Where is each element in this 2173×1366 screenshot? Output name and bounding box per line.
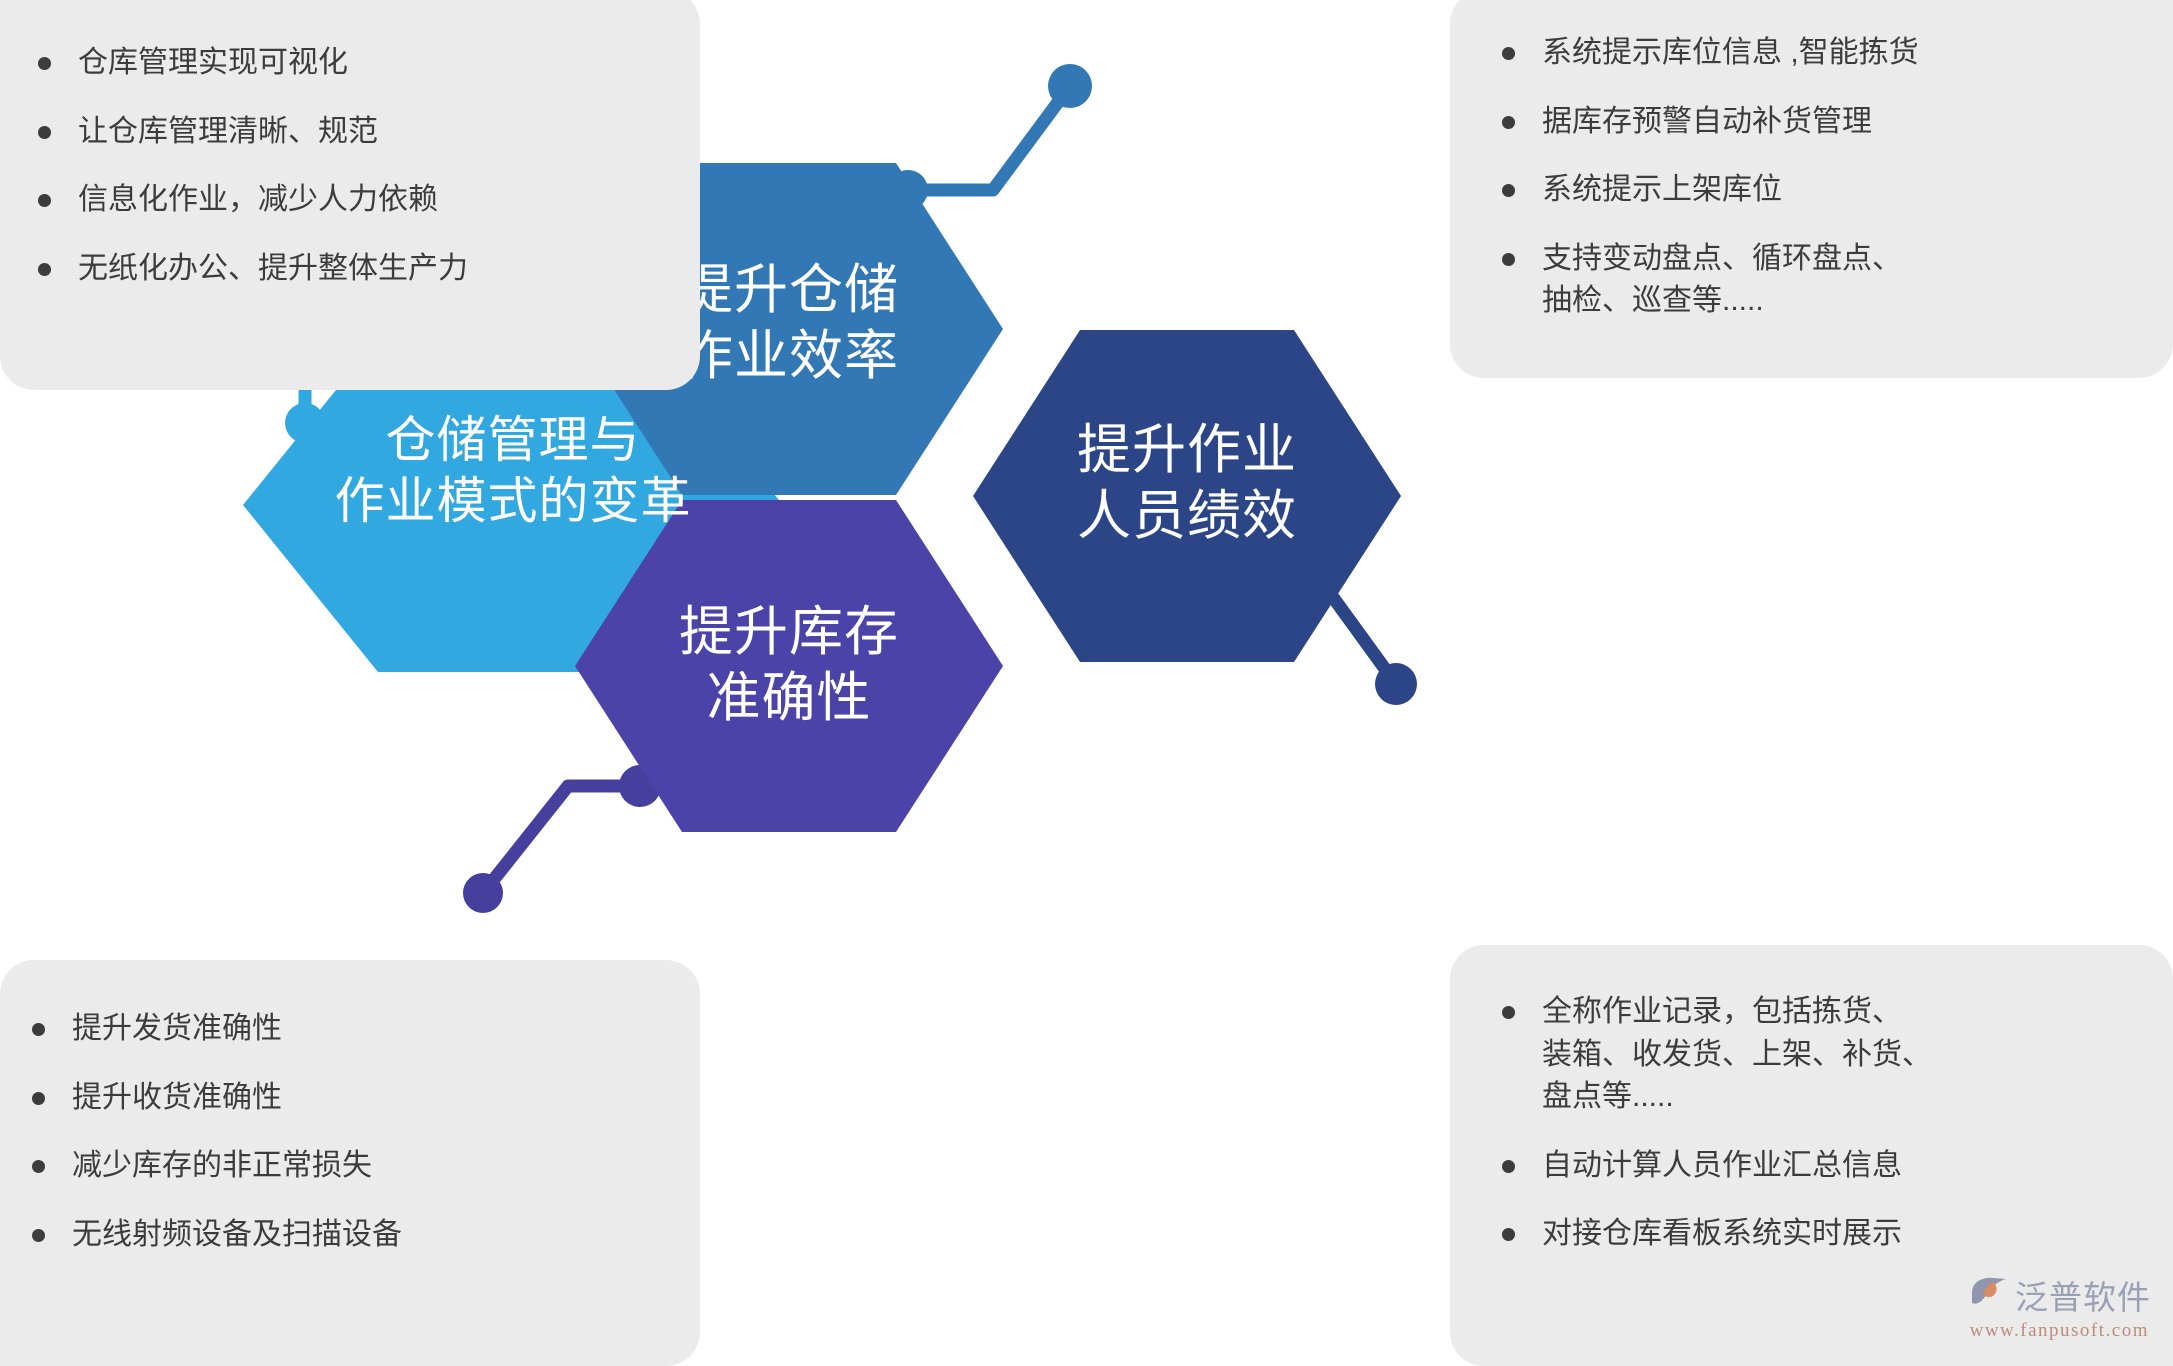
- list-item: 自动计算人员作业汇总信息: [1496, 1145, 2149, 1188]
- info-box-efficiency-benefits[interactable]: 系统提示库位信息 ,智能拣货 据库存预警自动补货管理 系统提示上架库位 支持变动…: [1450, 0, 2173, 378]
- info-list-transform-benefits: 仓库管理实现可视化 让仓库管理清晰、规范 信息化作业，减少人力依赖 无纸化办公、…: [32, 42, 660, 290]
- info-list-performance-benefits: 全称作业记录，包括拣货、 装箱、收发货、上架、补货、 盘点等..... 自动计算…: [1496, 991, 2149, 1256]
- list-item: 系统提示上架库位: [1496, 169, 2143, 212]
- list-item: 提升发货准确性: [26, 1008, 660, 1051]
- list-item: 据库存预警自动补货管理: [1496, 101, 2143, 144]
- diagram-canvas: 仓储管理与 作业模式的变革 提升仓储 作业效率 提升库存 准确性 提升作业 人员…: [0, 0, 2173, 1356]
- list-item: 提升收货准确性: [26, 1077, 660, 1120]
- info-list-efficiency-benefits: 系统提示库位信息 ,智能拣货 据库存预警自动补货管理 系统提示上架库位 支持变动…: [1496, 32, 2143, 323]
- list-item: 无纸化办公、提升整体生产力: [32, 248, 660, 291]
- list-item: 仓库管理实现可视化: [32, 42, 660, 85]
- list-item: 让仓库管理清晰、规范: [32, 111, 660, 154]
- info-box-performance-benefits[interactable]: 全称作业记录，包括拣货、 装箱、收发货、上架、补货、 盘点等..... 自动计算…: [1450, 945, 2173, 1366]
- list-item: 减少库存的非正常损失: [26, 1145, 660, 1188]
- list-item: 系统提示库位信息 ,智能拣货: [1496, 32, 2143, 75]
- info-box-transform-benefits[interactable]: 仓库管理实现可视化 让仓库管理清晰、规范 信息化作业，减少人力依赖 无纸化办公、…: [0, 0, 700, 390]
- hexagon-right-shape[interactable]: [973, 330, 1401, 662]
- list-item: 无线射频设备及扫描设备: [26, 1214, 660, 1257]
- list-item: 全称作业记录，包括拣货、 装箱、收发货、上架、补货、 盘点等.....: [1496, 991, 2149, 1119]
- list-item: 信息化作业，减少人力依赖: [32, 179, 660, 222]
- info-box-accuracy-benefits[interactable]: 提升发货准确性 提升收货准确性 减少库存的非正常损失 无线射频设备及扫描设备: [0, 960, 700, 1366]
- list-item: 对接仓库看板系统实时展示: [1496, 1213, 2149, 1256]
- list-item: 支持变动盘点、循环盘点、 抽检、巡查等.....: [1496, 238, 2143, 323]
- info-list-accuracy-benefits: 提升发货准确性 提升收货准确性 减少库存的非正常损失 无线射频设备及扫描设备: [26, 1008, 660, 1256]
